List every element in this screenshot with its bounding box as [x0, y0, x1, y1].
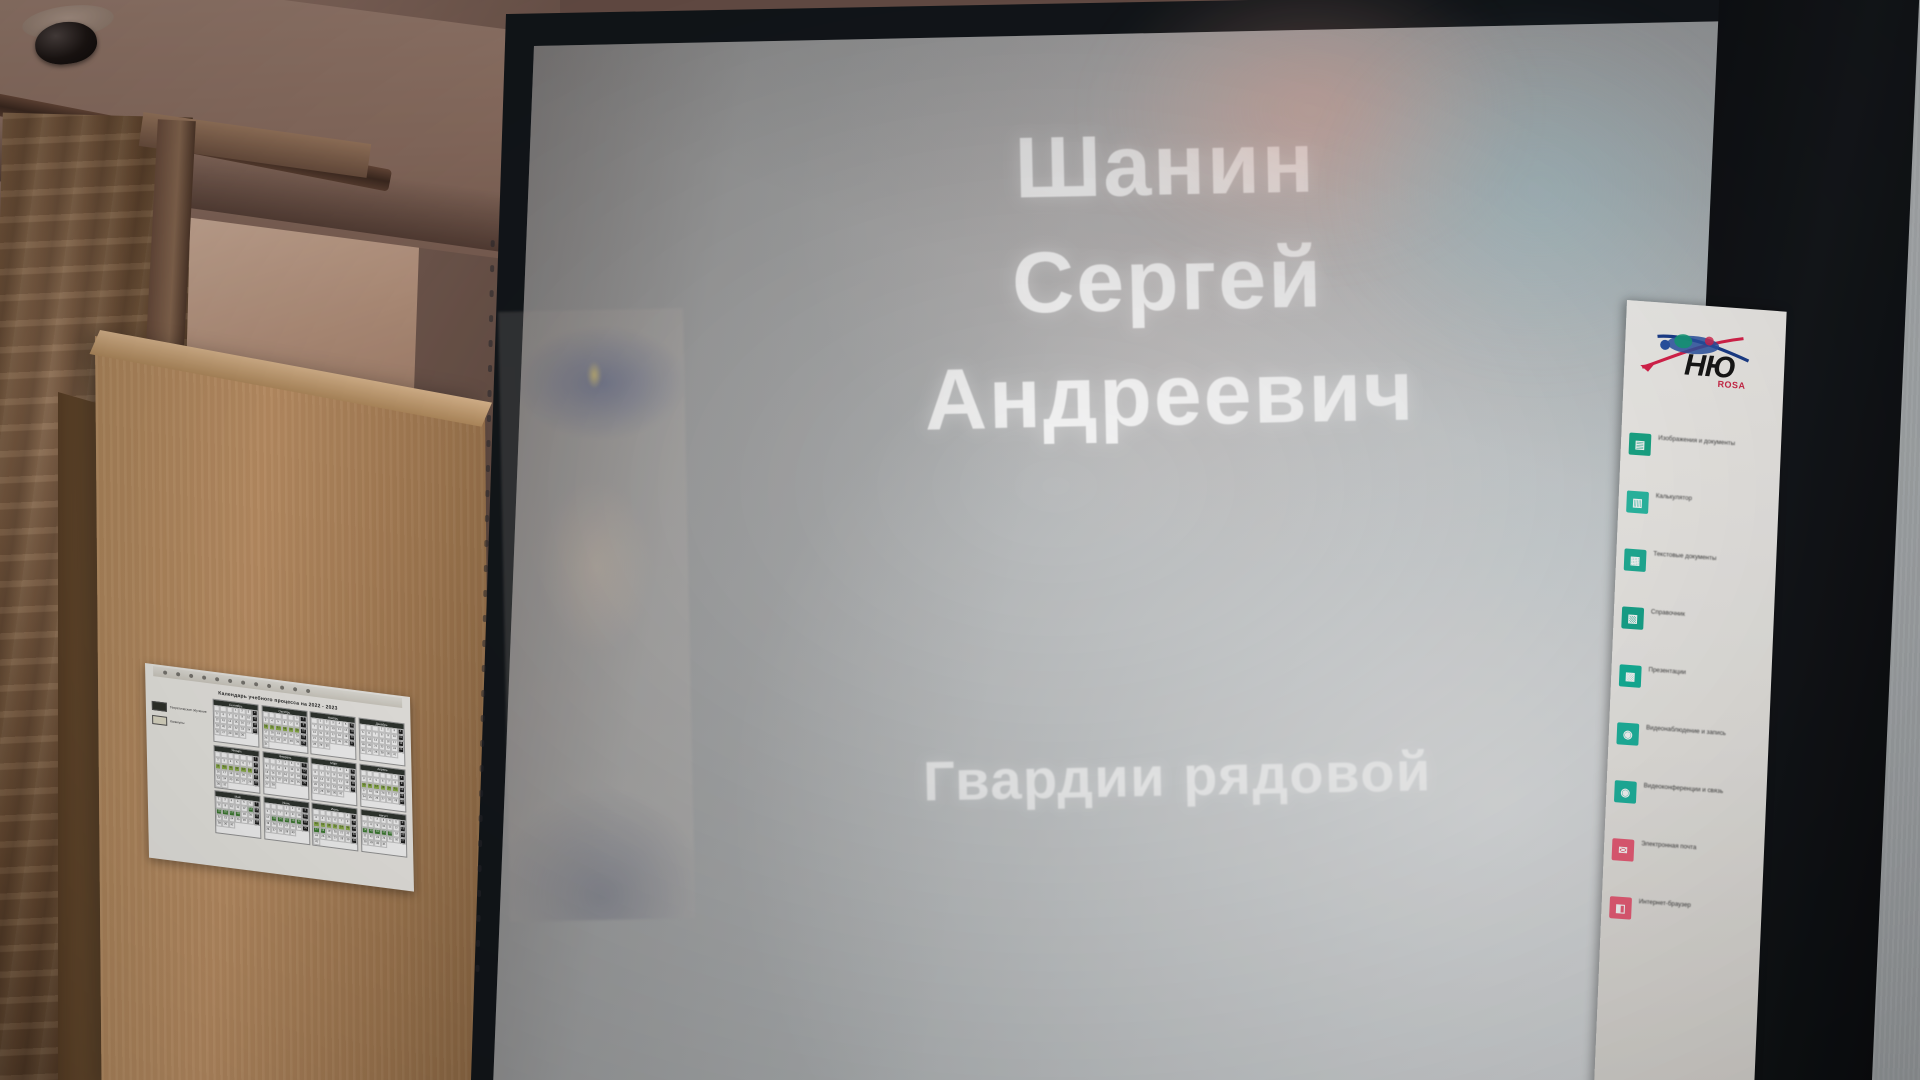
- calendar-day: 30: [351, 838, 357, 845]
- calendar-month: Декабрь123456789101112131415161718192021…: [358, 717, 405, 766]
- browser-icon: ◧: [1609, 896, 1632, 920]
- poster-item-label: Текстовые документы: [1653, 550, 1716, 564]
- screen-perforation-dot: [484, 565, 488, 572]
- tape-hole: [293, 687, 297, 692]
- screen-perforation-dot: [487, 390, 491, 397]
- beret-badge-icon: [587, 362, 602, 388]
- calendar-day: 31: [263, 741, 269, 748]
- calendar-day: 31: [229, 822, 235, 829]
- poster-item-label: Электронная почта: [1641, 840, 1696, 853]
- tape-hole: [254, 682, 258, 687]
- mail-icon: ✉: [1612, 838, 1635, 862]
- tape-hole: [163, 670, 167, 675]
- legend-swatch-light: [152, 715, 167, 726]
- webcam-icon: ◉: [1614, 780, 1637, 804]
- calendar-month: Май1234567891011121314151617181920212223…: [214, 790, 261, 839]
- screen-perforation-dot: [485, 490, 489, 497]
- calendar-day: 28: [254, 819, 260, 826]
- tape-hole: [267, 684, 271, 689]
- calendar-month: Апрель1234567891011121314151617181920212…: [359, 763, 406, 812]
- poster-list-item: ▥Калькулятор: [1626, 490, 1771, 523]
- slide-title-line-2: Сергей: [636, 213, 1698, 349]
- screen-perforation-dot: [487, 415, 491, 422]
- tape-hole: [241, 680, 245, 685]
- calendar-month: Июнь123456789101112131415161718192021222…: [263, 796, 310, 845]
- screen-perforation-dot: [484, 540, 488, 547]
- slide-subtitle-rank: Гвардии рядовой: [647, 733, 1708, 819]
- screen-perforation-dot: [475, 965, 479, 972]
- calendar-month: Июль123456789101112131415161718192021222…: [312, 802, 359, 851]
- screen-perforation-dot: [488, 365, 492, 372]
- grid-icon: ▩: [1619, 664, 1642, 688]
- poster-logo: НЮ ROSA: [1631, 311, 1779, 413]
- poster-item-label: Видеоконференции и связь: [1643, 782, 1723, 797]
- poster-list-item: ◉Видеонаблюдение и запись: [1616, 722, 1761, 755]
- poster-list-item: ✉Электронная почта: [1612, 838, 1757, 871]
- calendar-day: 27: [400, 838, 406, 845]
- poster-item-label: Презентации: [1648, 666, 1686, 678]
- calendar-day: 31: [338, 790, 344, 797]
- screen-perforation-dot: [482, 665, 486, 672]
- screen-perforation-dot: [481, 715, 485, 722]
- screen-perforation-dot: [477, 890, 481, 897]
- screen-perforation-dot: [480, 765, 484, 772]
- calendar-month: Январь1234567891011121314151617181920212…: [214, 744, 261, 793]
- calendar-day: 30: [301, 740, 307, 747]
- calendar-day: 31: [313, 839, 319, 846]
- poster-item-label: Изображения и документы: [1658, 435, 1735, 450]
- screen-perforation-dot: [486, 440, 490, 447]
- tape-hole: [215, 677, 219, 682]
- tape-hole: [176, 672, 180, 677]
- screen-perforation-dot: [489, 315, 493, 322]
- calendar-month: Сентябрь12345678910111213141516171819202…: [213, 699, 260, 748]
- calendar-month: Октябрь123456789101112131415161718192021…: [261, 705, 308, 754]
- slide-title: Шанин Сергей Андреевич: [634, 98, 1701, 465]
- screen-perforation-dot: [482, 640, 486, 647]
- slide-title-line-1: Шанин: [634, 98, 1696, 234]
- screen-perforation-dot: [483, 615, 487, 622]
- scene-photograph: Календарь учебного процесса на 2022 - 20…: [0, 0, 1920, 1080]
- screen-perforation-dot: [478, 840, 482, 847]
- screen-perforation-dot: [481, 690, 485, 697]
- tape-hole: [189, 674, 193, 679]
- calendar-day: 28: [270, 782, 276, 789]
- screen-perforation-dot: [483, 590, 487, 597]
- tape-hole: [228, 679, 232, 684]
- calendar-legend: Теоретическое обучение Каникулы: [152, 691, 213, 833]
- poster-item-label: Видеонаблюдение и запись: [1646, 724, 1726, 739]
- screen-perforation-dot: [485, 515, 489, 522]
- legend-label: Теоретическое обучение: [170, 706, 207, 714]
- poster-list-item: ▧Справочник: [1621, 606, 1766, 639]
- calendar-day: 26: [301, 780, 307, 787]
- screen-perforation-dot: [479, 790, 483, 797]
- calendar-poster: Календарь учебного процесса на 2022 - 20…: [145, 663, 414, 892]
- poster-list-item: ▦Текстовые документы: [1624, 548, 1769, 581]
- legend-label: Каникулы: [170, 720, 184, 725]
- calendar-day: 27: [349, 740, 355, 747]
- calculator-icon: ▥: [1626, 490, 1649, 514]
- spreadsheet-icon: ▧: [1621, 606, 1644, 630]
- poster-list-item: ◉Видеоконференции и связь: [1614, 780, 1759, 813]
- wall-poster: НЮ ROSA ▤Изображения и документы▥Калькул…: [1593, 300, 1786, 1080]
- poster-list-item: ◧Интернет-браузер: [1609, 896, 1754, 929]
- screen-perforation-dot: [489, 340, 493, 347]
- screen-perforation-dot: [476, 940, 480, 947]
- calendar-day: 25: [252, 728, 258, 735]
- tape-hole: [306, 689, 310, 694]
- slide-title-line-3: Андреевич: [639, 328, 1701, 464]
- screen-perforation-dot: [490, 265, 494, 272]
- screen-perforation-dot: [490, 290, 494, 297]
- calendar-day: 25: [398, 746, 404, 753]
- screen-perforation-dot: [476, 915, 480, 922]
- calendar-day: 29: [253, 779, 259, 786]
- poster-logo-subtext: ROSA: [1717, 379, 1745, 391]
- poster-item-list: ▤Изображения и документы▥Калькулятор▦Тек…: [1609, 432, 1773, 928]
- calendar-day: 31: [381, 841, 387, 848]
- calendar-day: 30: [399, 798, 405, 805]
- poster-item-label: Интернет-браузер: [1639, 898, 1691, 911]
- image-viewer-icon: ▤: [1629, 432, 1652, 456]
- screen-perforation-dot: [478, 865, 482, 872]
- calendar-month: Февраль123456789101112131415161718192021…: [262, 751, 309, 800]
- calendar-day: 30: [290, 830, 296, 837]
- calendar-month: Ноябрь1234567891011121314151617181920212…: [310, 711, 357, 760]
- calendar-day: 31: [392, 752, 398, 759]
- poster-list-item: ▩Презентации: [1619, 664, 1764, 697]
- screen-perforation-dot: [480, 740, 484, 747]
- poster-list-item: ▤Изображения и документы: [1629, 432, 1774, 465]
- tape-hole: [280, 685, 284, 690]
- legend-swatch-dark: [152, 701, 167, 712]
- calendar-day: 25: [302, 825, 308, 832]
- tape-hole: [202, 675, 206, 680]
- screen-perforation-dot: [486, 465, 490, 472]
- calendar-day: 30: [324, 743, 330, 750]
- calendar-day: 31: [222, 781, 228, 788]
- camera-icon: ◉: [1616, 722, 1639, 746]
- calendar-day: 30: [239, 732, 245, 739]
- screen-perforation-dot: [479, 815, 483, 822]
- calendar-month: Март123456789101112131415161718192021222…: [311, 757, 358, 806]
- calendar-month: Август1234567891011121314151617181920212…: [360, 809, 407, 858]
- text-editor-icon: ▦: [1624, 548, 1647, 572]
- calendar-day: 26: [350, 786, 356, 793]
- calendar-month-grid: Сентябрь12345678910111213141516171819202…: [213, 699, 408, 858]
- poster-item-label: Справочник: [1651, 608, 1685, 619]
- legend-item: Каникулы: [152, 715, 210, 731]
- poster-item-label: Калькулятор: [1656, 493, 1693, 505]
- legend-item: Теоретическое обучение: [152, 701, 210, 717]
- screen-perforation-dot: [491, 240, 495, 247]
